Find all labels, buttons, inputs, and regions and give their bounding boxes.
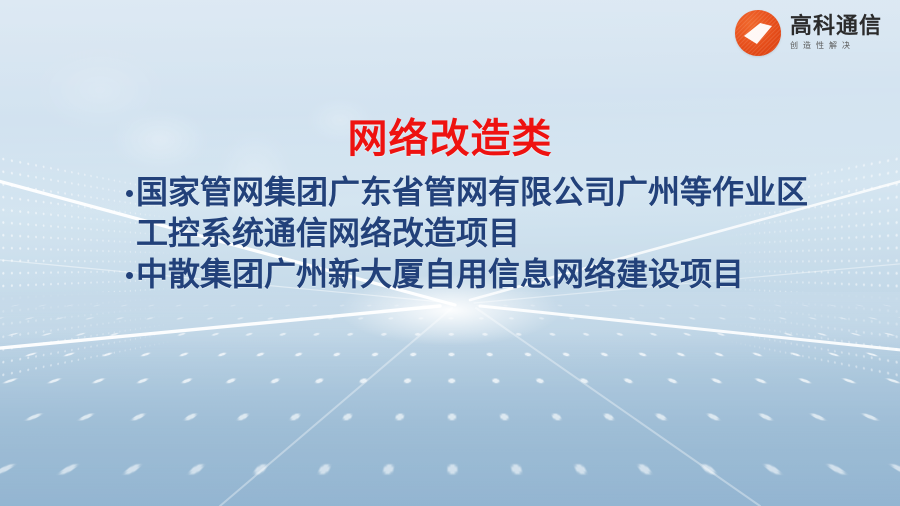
list-item: 国家管网集团广东省管网有限公司广州等作业区工控系统通信网络改造项目 xyxy=(126,172,826,254)
logo-text-block: 高科通信 创造性解决 xyxy=(790,16,882,50)
page-title: 网络改造类 xyxy=(0,118,900,160)
arrow-logo-icon xyxy=(735,10,781,56)
bullet-list: 国家管网集团广东省管网有限公司广州等作业区工控系统通信网络改造项目 中散集团广州… xyxy=(126,172,826,295)
bullet-dot-icon xyxy=(126,190,133,197)
company-logo: 高科通信 创造性解决 xyxy=(735,10,882,56)
list-item-label: 中散集团广州新大厦自用信息网络建设项目 xyxy=(136,254,744,295)
list-item: 中散集团广州新大厦自用信息网络建设项目 xyxy=(126,254,826,295)
presentation-slide: 高科通信 创造性解决 网络改造类 国家管网集团广东省管网有限公司广州等作业区工控… xyxy=(0,0,900,506)
bullet-dot-icon xyxy=(126,272,133,279)
list-item-label: 国家管网集团广东省管网有限公司广州等作业区工控系统通信网络改造项目 xyxy=(136,172,826,254)
logo-tagline: 创造性解决 xyxy=(790,42,882,50)
logo-company-name: 高科通信 xyxy=(790,16,882,38)
